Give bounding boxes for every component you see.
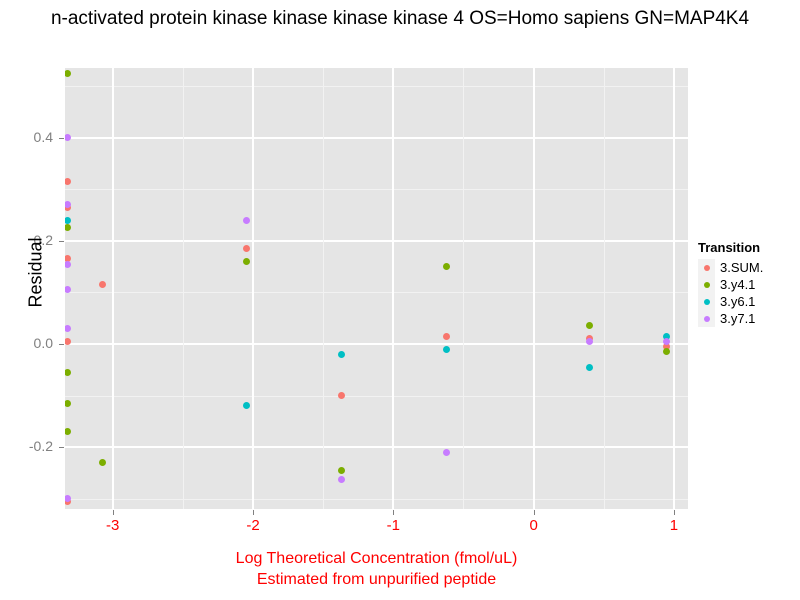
legend-swatch: [698, 293, 715, 310]
data-point: [663, 348, 670, 355]
x-tick-mark: [253, 510, 254, 515]
gridline-major-vertical: [392, 68, 394, 509]
legend-title: Transition: [698, 240, 763, 255]
gridline-minor-vertical: [463, 68, 464, 509]
data-point: [65, 134, 71, 141]
gridline-minor-horizontal: [65, 86, 688, 87]
data-point: [65, 428, 71, 435]
data-point: [99, 459, 106, 466]
legend-item-3y71[interactable]: 3.y7.1: [698, 310, 763, 327]
legend-swatch: [698, 259, 715, 276]
data-point: [338, 392, 345, 399]
data-point: [243, 217, 250, 224]
y-tick-mark: [59, 138, 64, 139]
x-tick-label: -3: [73, 517, 153, 534]
legend-dot-icon: [704, 265, 710, 271]
gridline-minor-horizontal: [65, 189, 688, 190]
y-tick-mark: [59, 241, 64, 242]
gridline-major-horizontal: [65, 343, 688, 345]
x-tick-label: 0: [494, 517, 574, 534]
plot-panel: [65, 68, 688, 509]
y-tick-mark: [59, 344, 64, 345]
data-point: [65, 217, 71, 224]
legend-dot-icon: [704, 316, 710, 322]
data-point: [65, 325, 71, 332]
y-tick-label: 0.4: [0, 129, 53, 145]
gridline-major-vertical: [673, 68, 675, 509]
gridline-minor-horizontal: [65, 292, 688, 293]
x-tick-label: -1: [353, 517, 433, 534]
legend-item-3sum[interactable]: 3.SUM.: [698, 259, 763, 276]
gridline-major-horizontal: [65, 240, 688, 242]
gridline-minor-horizontal: [65, 499, 688, 500]
data-point: [338, 467, 345, 474]
x-tick-mark: [393, 510, 394, 515]
data-point: [65, 400, 71, 407]
data-point: [65, 178, 71, 185]
legend-item-3y41[interactable]: 3.y4.1: [698, 276, 763, 293]
legend-swatch: [698, 310, 715, 327]
gridline-major-vertical: [252, 68, 254, 509]
data-point: [243, 245, 250, 252]
data-point: [338, 476, 345, 483]
data-point: [65, 224, 71, 231]
data-point: [338, 351, 345, 358]
data-point: [65, 261, 71, 268]
legend-item-label: 3.y6.1: [720, 294, 755, 309]
data-point: [586, 364, 593, 371]
legend-items: 3.SUM.3.y4.13.y6.13.y7.1: [698, 259, 763, 327]
y-tick-label: -0.2: [0, 438, 53, 454]
legend-item-label: 3.y7.1: [720, 311, 755, 326]
gridline-minor-vertical: [323, 68, 324, 509]
gridline-major-vertical: [112, 68, 114, 509]
data-point: [443, 263, 450, 270]
legend-swatch: [698, 276, 715, 293]
page-title: n-activated protein kinase kinase kinase…: [0, 8, 800, 30]
chart-root: n-activated protein kinase kinase kinase…: [0, 0, 800, 600]
data-point: [65, 70, 71, 77]
gridline-minor-horizontal: [65, 396, 688, 397]
gridline-major-horizontal: [65, 137, 688, 139]
legend-item-3y61[interactable]: 3.y6.1: [698, 293, 763, 310]
data-point: [65, 369, 71, 376]
data-point: [243, 402, 250, 409]
x-tick-mark: [534, 510, 535, 515]
data-point: [443, 346, 450, 353]
x-axis-title-line1: Log Theoretical Concentration (fmol/uL): [65, 548, 688, 569]
x-tick-mark: [113, 510, 114, 515]
legend-dot-icon: [704, 282, 710, 288]
data-point: [586, 322, 593, 329]
legend: Transition 3.SUM.3.y4.13.y6.13.y7.1: [698, 240, 763, 327]
data-point: [243, 258, 250, 265]
x-tick-label: -2: [213, 517, 293, 534]
x-tick-mark: [674, 510, 675, 515]
x-axis-title: Log Theoretical Concentration (fmol/uL) …: [65, 548, 688, 590]
gridline-minor-vertical: [183, 68, 184, 509]
x-tick-label: 1: [634, 517, 714, 534]
y-axis-title: Residual: [26, 193, 47, 353]
legend-item-label: 3.SUM.: [720, 260, 763, 275]
legend-item-label: 3.y4.1: [720, 277, 755, 292]
legend-dot-icon: [704, 299, 710, 305]
y-tick-mark: [59, 447, 64, 448]
data-point: [443, 333, 450, 340]
data-point: [99, 281, 106, 288]
x-axis-title-line2: Estimated from unpurified peptide: [65, 569, 688, 590]
data-point: [443, 449, 450, 456]
gridline-major-vertical: [533, 68, 535, 509]
gridline-minor-vertical: [604, 68, 605, 509]
gridline-major-horizontal: [65, 446, 688, 448]
